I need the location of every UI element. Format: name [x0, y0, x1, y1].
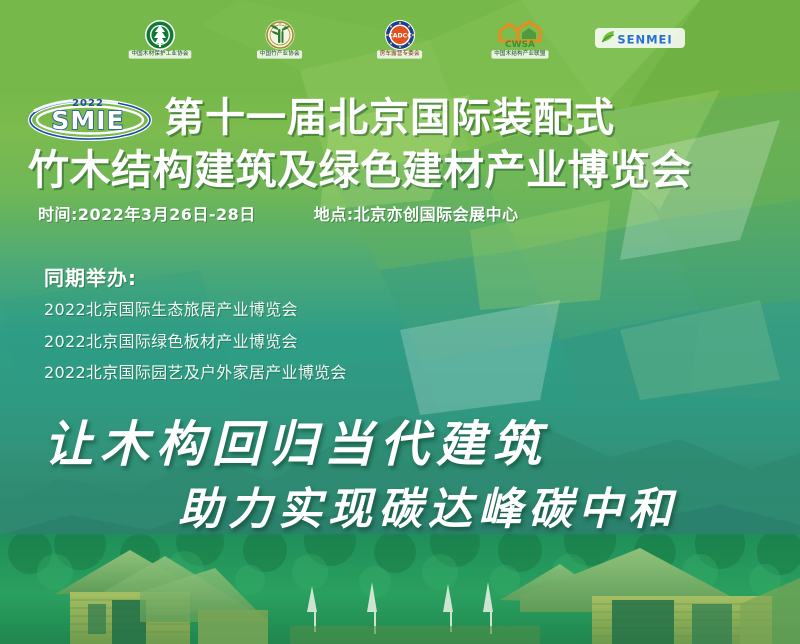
slogan-line-1: 让木构回归当代建筑 — [0, 418, 800, 472]
concurrent-event-item: 2022北京国际绿色板材产业博览会 — [44, 333, 347, 351]
logo-cadcc-rv-camping: CADCC 房车露营专委会 — [354, 9, 446, 69]
house-cwsa-icon: CWSA — [494, 19, 546, 53]
headline-row-1: 2022 SMIE 第十一届北京国际装配式 — [26, 92, 774, 144]
cwsa-abbr: CWSA — [505, 40, 535, 50]
leaf-wordmark-icon: SENMEI — [595, 24, 685, 54]
event-date: 时间:2022年3月26日-28日 — [38, 201, 256, 225]
logo-senmei: SENMEI — [594, 9, 686, 69]
cadcc-abbr: CADCC — [388, 33, 412, 40]
concurrent-event-item: 2022北京国际生态旅居产业博览会 — [44, 301, 347, 319]
bamboo-circle-icon — [258, 19, 302, 53]
logo-caption: 中国竹产业协会 — [257, 51, 302, 59]
event-meta-row: 时间:2022年3月26日-28日 地点:北京亦创国际会展中心 — [38, 201, 519, 225]
senmei-wordmark: SENMEI — [617, 33, 672, 47]
event-venue: 地点:北京亦创国际会展中心 — [314, 201, 519, 225]
logo-caption: 中国木结构产业联盟 — [492, 51, 549, 59]
tree-circle-icon — [138, 19, 182, 53]
headline-line-1: 第十一届北京国际装配式 — [164, 98, 615, 138]
expo-banner: 中国木材保护工业协会 中国竹产业协会 — [0, 0, 800, 644]
concurrent-events-block: 同期举办: 2022北京国际生态旅居产业博览会 2022北京国际绿色板材产业博览… — [44, 262, 347, 396]
smie-logo: 2022 SMIE — [26, 93, 154, 143]
cadcc-seal-icon: CADCC — [378, 19, 422, 53]
headline-line-2: 竹木结构建筑及绿色建材产业博览会 — [26, 150, 774, 191]
logo-caption: 房车露营专委会 — [377, 51, 422, 59]
slogan-block: 让木构回归当代建筑 助力实现碳达峰碳中和 — [0, 418, 800, 534]
logo-china-bamboo-association: 中国竹产业协会 — [234, 9, 326, 69]
headline-block: 2022 SMIE 第十一届北京国际装配式 竹木结构建筑及绿色建材产业博览会 — [0, 92, 800, 191]
concurrent-events-title: 同期举办: — [44, 262, 347, 291]
concurrent-event-item: 2022北京国际园艺及户外家居产业博览会 — [44, 364, 347, 382]
logo-cwsa-wood-structure: CWSA 中国木结构产业联盟 — [474, 9, 566, 69]
cabins-forest-photo — [0, 534, 800, 644]
logo-china-timber-protection: 中国木材保护工业协会 — [114, 9, 206, 69]
sponsor-logo-strip: 中国木材保护工业协会 中国竹产业协会 — [0, 6, 800, 72]
slogan-line-2: 助力实现碳达峰碳中和 — [0, 486, 800, 534]
smie-brand: SMIE — [51, 106, 124, 135]
logo-caption: 中国木材保护工业协会 — [129, 51, 192, 59]
